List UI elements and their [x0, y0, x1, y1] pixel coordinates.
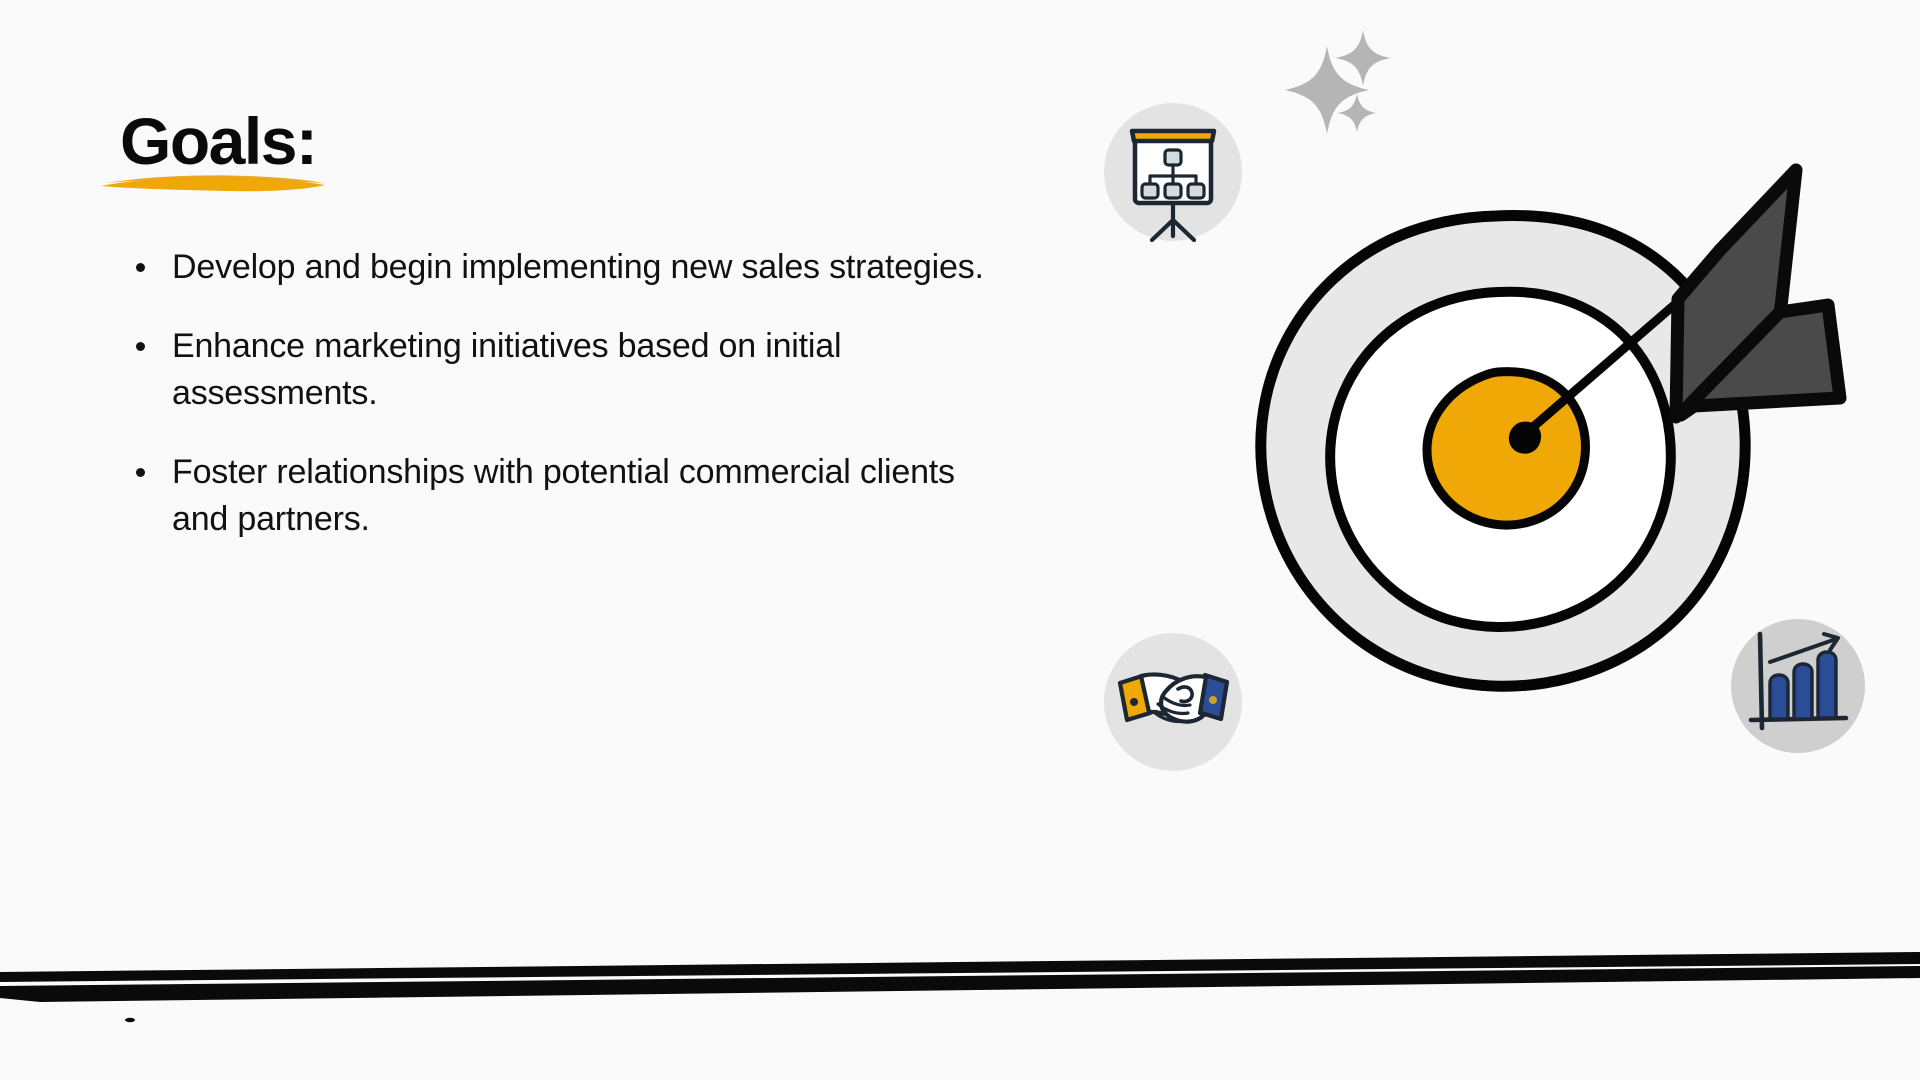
list-item-text: Foster relationships with potential comm…: [172, 453, 955, 538]
list-item-text: Enhance marketing initiatives based on i…: [172, 327, 841, 412]
presentation-board-icon: [1104, 103, 1242, 241]
handshake-icon: [1104, 633, 1242, 771]
title-block: Goals:: [120, 108, 316, 180]
goals-bullet-list: Develop and begin implementing new sales…: [120, 244, 1020, 543]
target-with-arrow-illustration: [1080, 0, 1920, 800]
arrow-fletching-icon: [1676, 170, 1840, 417]
sparkles-icon: [1285, 30, 1391, 134]
list-item-text: Develop and begin implementing new sales…: [172, 248, 984, 286]
accent-dot-icon: [125, 1018, 135, 1022]
bottom-decorative-lines: [0, 920, 1920, 1080]
bullet-dot-icon: [136, 468, 145, 477]
target-rings: [1261, 216, 1745, 687]
list-item: Develop and begin implementing new sales…: [120, 244, 1020, 291]
list-item: Enhance marketing initiatives based on i…: [120, 323, 1020, 417]
bar-chart-growth-icon: [1731, 619, 1865, 753]
content-column: Goals: Develop and begin implementing ne…: [120, 108, 1020, 543]
list-item: Foster relationships with potential comm…: [120, 449, 1020, 543]
bullet-dot-icon: [136, 263, 145, 272]
bullet-dot-icon: [136, 342, 145, 351]
page-title: Goals:: [120, 108, 316, 174]
slide-canvas: Goals: Develop and begin implementing ne…: [0, 0, 1920, 1080]
